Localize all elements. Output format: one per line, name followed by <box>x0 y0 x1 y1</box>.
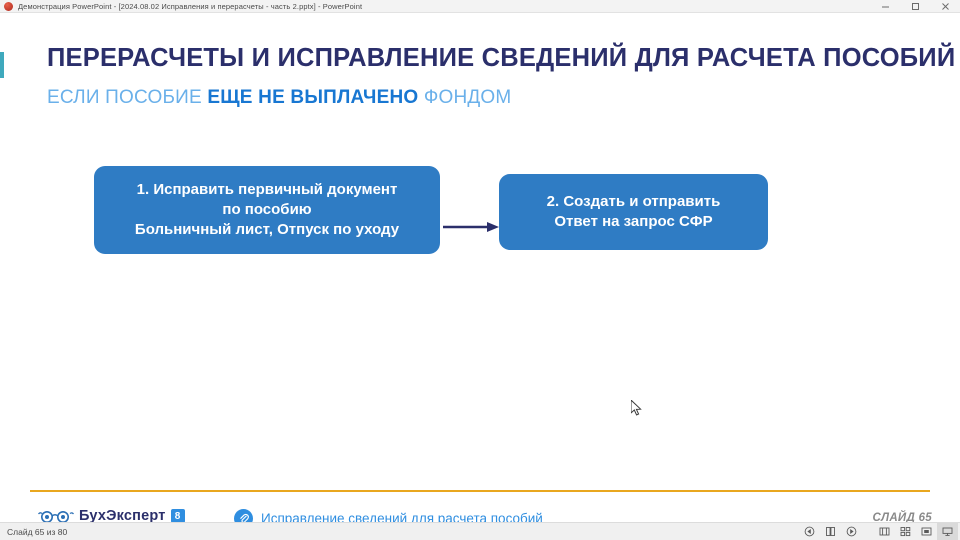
powerpoint-icon <box>4 2 13 11</box>
close-button[interactable] <box>930 0 960 13</box>
brand-version-badge: 8 <box>171 509 185 523</box>
page-title: ПЕРЕРАСЧЕТЫ И ИСПРАВЛЕНИЕ СВЕДЕНИЙ ДЛЯ Р… <box>47 44 955 73</box>
mouse-cursor <box>631 400 643 418</box>
next-slide-icon[interactable] <box>841 523 862 540</box>
flow-box-2-line-1: 2. Создать и отправить <box>547 192 721 212</box>
slide-canvas[interactable]: ПЕРЕРАСЧЕТЫ И ИСПРАВЛЕНИЕ СВЕДЕНИЙ ДЛЯ Р… <box>0 14 960 522</box>
slide-counter: Слайд 65 из 80 <box>7 527 67 537</box>
all-slides-icon[interactable] <box>874 523 895 540</box>
arrow-right-icon <box>443 220 499 232</box>
previous-slide-icon[interactable] <box>799 523 820 540</box>
window-title: Демонстрация PowerPoint - [2024.08.02 Ис… <box>18 2 362 11</box>
footer-divider <box>30 490 930 492</box>
fit-slide-icon[interactable] <box>916 523 937 540</box>
flow-box-step-2[interactable]: 2. Создать и отправить Ответ на запрос С… <box>499 174 768 250</box>
pen-tools-icon[interactable] <box>820 523 841 540</box>
title-accent-bar <box>0 52 4 78</box>
restore-button[interactable] <box>900 0 930 13</box>
status-bar: Слайд 65 из 80 <box>0 522 960 540</box>
window-title-bar: Демонстрация PowerPoint - [2024.08.02 Ис… <box>0 0 960 13</box>
minimize-button[interactable] <box>870 0 900 13</box>
flow-box-step-1[interactable]: 1. Исправить первичный документ по пособ… <box>94 166 440 254</box>
flow-box-1-line-3: Больничный лист, Отпуск по уходу <box>135 220 399 240</box>
subtitle-after: ФОНДОМ <box>418 87 511 108</box>
status-bar-icons <box>799 523 958 540</box>
zoom-icon[interactable] <box>895 523 916 540</box>
subtitle-before: ЕСЛИ ПОСОБИЕ <box>47 87 207 108</box>
subtitle-highlight: ЕЩЕ НЕ ВЫПЛАЧЕНО <box>207 87 418 108</box>
flow-box-1-line-1: 1. Исправить первичный документ <box>137 180 398 200</box>
window-controls <box>870 0 960 13</box>
flow-box-1-line-2: по пособию <box>222 200 311 220</box>
flow-box-2-line-2: Ответ на запрос СФР <box>554 212 712 232</box>
slide-subtitle: ЕСЛИ ПОСОБИЕ ЕЩЕ НЕ ВЫПЛАЧЕНО ФОНДОМ <box>47 87 511 109</box>
display-settings-icon[interactable] <box>937 523 958 540</box>
